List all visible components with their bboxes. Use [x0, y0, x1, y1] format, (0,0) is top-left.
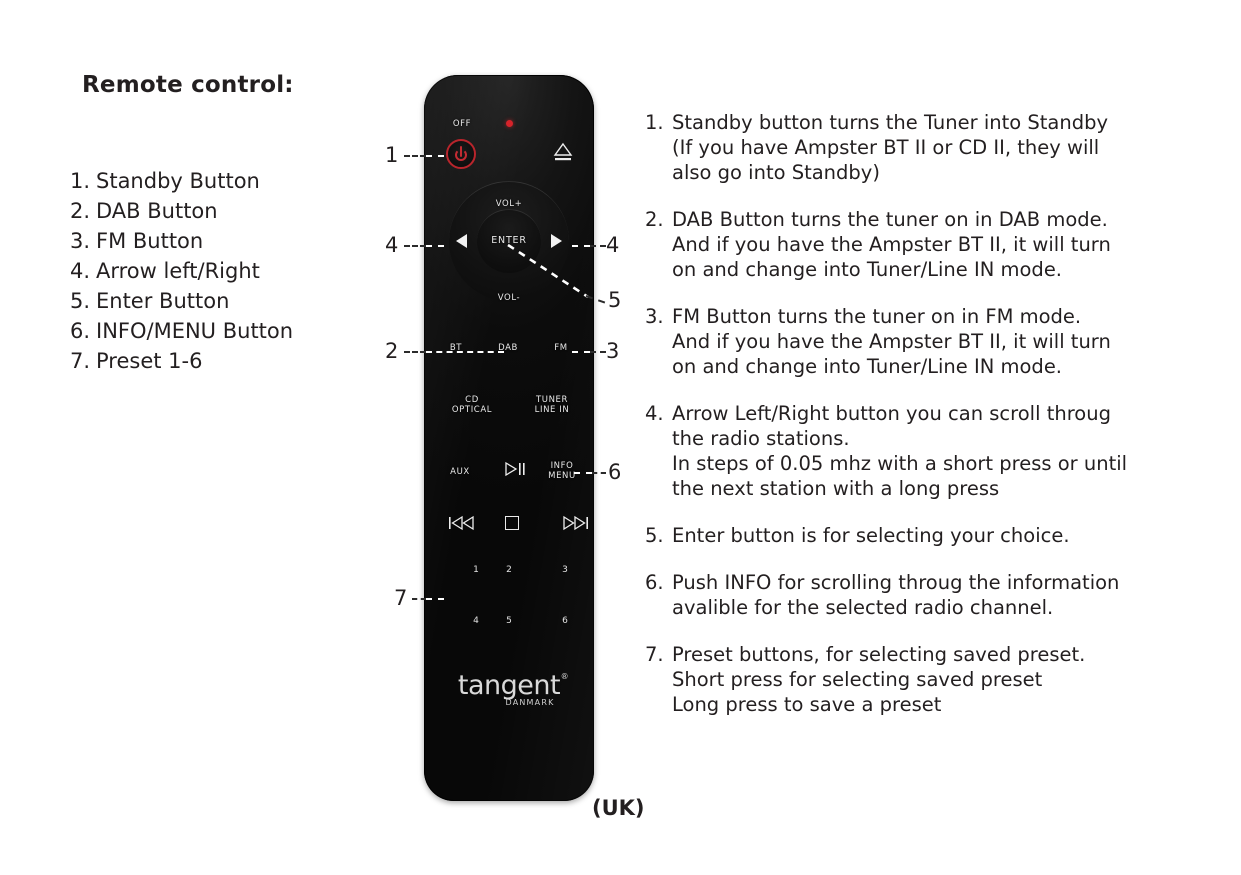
callout-leader-6-dark	[592, 472, 606, 474]
callout-number-3: 3	[606, 341, 619, 362]
legend-item-number: 5.	[70, 286, 96, 316]
legend-item-label: INFO/MENU Button	[96, 316, 293, 346]
callout-leader-6	[574, 472, 592, 474]
legend-item-label: DAB Button	[96, 196, 218, 226]
callout-leader-3	[572, 351, 590, 353]
page-title: Remote control:	[82, 72, 400, 98]
description-item: 4. Arrow Left/Right button you can scrol…	[645, 401, 1205, 501]
callout-leader-4-left	[426, 245, 444, 247]
legend-item: 5. Enter Button	[70, 286, 400, 316]
preset-button-6[interactable]: 6	[553, 616, 577, 626]
description-number: 6.	[645, 570, 672, 620]
callout-leader-2-dark	[404, 351, 426, 353]
legend-item: 2. DAB Button	[70, 196, 400, 226]
brand-name: tangent ®	[458, 670, 560, 701]
legend-item-number: 2.	[70, 196, 96, 226]
volume-down-button[interactable]: VOL-	[474, 293, 544, 303]
description-number: 5.	[645, 523, 672, 548]
description-number: 4.	[645, 401, 672, 501]
description-number: 1.	[645, 110, 672, 185]
callout-leader-1	[426, 155, 444, 157]
callout-leader-4-right-dark	[590, 245, 606, 247]
tuner-line-in-button[interactable]: TUNER LINE IN	[516, 395, 588, 415]
callout-number-4-left: 4	[385, 235, 398, 256]
remote-control-body: OFF VOL+ VOL- ENTER BT DAB FM CD OPTICAL…	[424, 75, 594, 801]
legend-item: 1. Standby Button	[70, 166, 400, 196]
legend-item-label: Arrow left/Right	[96, 256, 260, 286]
arrow-left-icon[interactable]	[456, 234, 467, 248]
previous-track-icon[interactable]	[448, 515, 476, 531]
legend-item-label: Standby Button	[96, 166, 260, 196]
callout-leader-1-dark	[404, 155, 426, 157]
legend-item-number: 1.	[70, 166, 96, 196]
callout-number-7: 7	[394, 588, 407, 609]
eject-icon[interactable]	[550, 141, 576, 165]
language-label: (UK)	[592, 796, 645, 820]
legend-item-label: Preset 1-6	[96, 346, 202, 376]
callout-leader-3-dark	[590, 351, 606, 353]
description-number: 2.	[645, 207, 672, 282]
callout-number-1: 1	[385, 145, 398, 166]
callout-leader-4-left-dark	[404, 245, 426, 247]
preset-button-5[interactable]: 5	[497, 616, 521, 626]
description-text: Enter button is for selecting your choic…	[672, 523, 1070, 548]
legend-item-number: 7.	[70, 346, 96, 376]
callout-number-5: 5	[608, 290, 621, 311]
next-track-icon[interactable]	[561, 515, 589, 531]
description-item: 5. Enter button is for selecting your ch…	[645, 523, 1205, 548]
callout-number-4-right: 4	[606, 235, 619, 256]
volume-up-button[interactable]: VOL+	[474, 199, 544, 209]
description-text: FM Button turns the tuner on in FM mode.…	[672, 304, 1111, 379]
description-item: 7. Preset buttons, for selecting saved p…	[645, 642, 1205, 717]
description-item: 6. Push INFO for scrolling throug the in…	[645, 570, 1205, 620]
legend-item: 3. FM Button	[70, 226, 400, 256]
legend-item-number: 3.	[70, 226, 96, 256]
description-text: DAB Button turns the tuner on in DAB mod…	[672, 207, 1111, 282]
legend-item-label: Enter Button	[96, 286, 229, 316]
legend-item-number: 4.	[70, 256, 96, 286]
description-number: 3.	[645, 304, 672, 379]
description-item: 1. Standby button turns the Tuner into S…	[645, 110, 1205, 185]
off-label: OFF	[440, 119, 484, 129]
description-item: 2. DAB Button turns the tuner on in DAB …	[645, 207, 1205, 282]
brand-logo: tangent ® DANMARK	[424, 670, 594, 707]
stop-icon[interactable]	[505, 516, 519, 530]
legend-item: 4. Arrow left/Right	[70, 256, 400, 286]
preset-button-4[interactable]: 4	[464, 616, 488, 626]
description-number: 7.	[645, 642, 672, 717]
cd-optical-button[interactable]: CD OPTICAL	[436, 395, 508, 415]
callout-leader-7-dark	[412, 598, 426, 600]
aux-button[interactable]: AUX	[434, 467, 486, 477]
legend-item-number: 6.	[70, 316, 96, 346]
registered-trademark-icon: ®	[561, 672, 569, 681]
callout-number-6: 6	[608, 462, 621, 483]
arrow-right-icon[interactable]	[551, 234, 562, 248]
legend-list: 1. Standby Button 2. DAB Button 3. FM Bu…	[70, 166, 400, 376]
legend-item: 6. INFO/MENU Button	[70, 316, 400, 346]
description-text: Push INFO for scrolling throug the infor…	[672, 570, 1119, 620]
callout-leader-7	[426, 598, 444, 600]
led-indicator-icon	[506, 120, 513, 127]
callout-leader-2	[426, 351, 504, 353]
description-text: Preset buttons, for selecting saved pres…	[672, 642, 1085, 717]
descriptions-list: 1. Standby button turns the Tuner into S…	[645, 110, 1205, 739]
description-text: Arrow Left/Right button you can scroll t…	[672, 401, 1127, 501]
legend-item: 7. Preset 1-6	[70, 346, 400, 376]
navigation-cluster: VOL+ VOL- ENTER	[438, 181, 580, 313]
callout-leader-4-right	[572, 245, 590, 247]
brand-name-text: tangent	[458, 670, 560, 701]
power-icon[interactable]	[446, 139, 476, 169]
play-pause-icon[interactable]	[502, 461, 528, 477]
preset-button-2[interactable]: 2	[497, 565, 521, 575]
preset-button-3[interactable]: 3	[553, 565, 577, 575]
preset-button-1[interactable]: 1	[464, 565, 488, 575]
callout-number-2: 2	[385, 341, 398, 362]
description-item: 3. FM Button turns the tuner on in FM mo…	[645, 304, 1205, 379]
legend-item-label: FM Button	[96, 226, 203, 256]
left-column: Remote control: 1. Standby Button 2. DAB…	[70, 72, 400, 376]
description-text: Standby button turns the Tuner into Stan…	[672, 110, 1108, 185]
enter-button[interactable]: ENTER	[471, 236, 547, 246]
